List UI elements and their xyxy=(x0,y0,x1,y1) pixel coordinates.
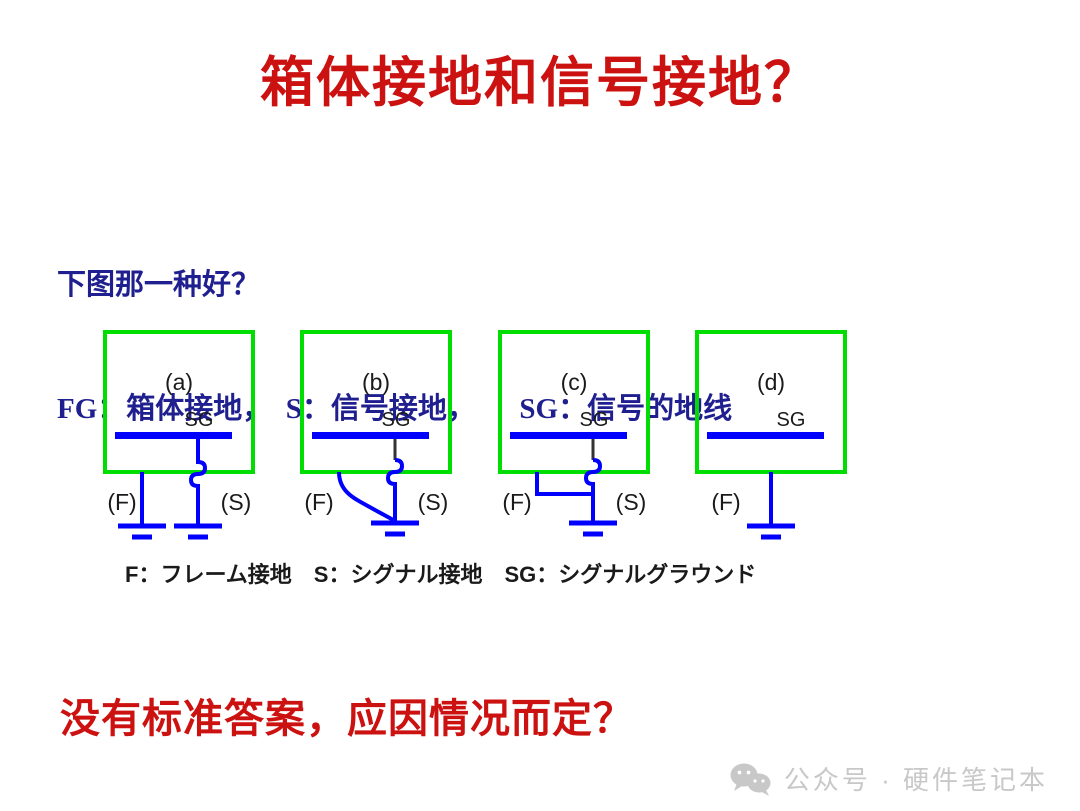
panel-c-shared-ground-icon xyxy=(569,523,617,534)
panel-a-sg-bus xyxy=(115,432,232,439)
panel-c-sg-label: SG xyxy=(580,409,609,431)
diagram-caption: F：フレーム接地 S：シグナル接地 SG：シグナルグラウンド xyxy=(125,562,756,587)
panel-d-sg-bus xyxy=(707,432,824,439)
panel-b-signal-wire xyxy=(388,460,402,523)
panel-c-signal-wire xyxy=(586,460,600,523)
panel-a-signal-ground-label: (S) xyxy=(221,489,252,515)
panel-b-sg-bus xyxy=(312,432,429,439)
panel-b-enclosure xyxy=(302,332,450,472)
panel-c-signal-ground-label: (S) xyxy=(616,489,647,515)
panel-b-frame-ground-label: (F) xyxy=(304,489,333,515)
panel-b: (b) SG (F) (S) xyxy=(302,332,450,534)
panel-a-frame-ground-icon xyxy=(118,526,166,537)
panel-d: (d) SG (F) xyxy=(697,332,845,537)
wechat-icon xyxy=(730,762,772,796)
panel-d-sg-label: SG xyxy=(777,409,806,431)
grounding-diagram-svg: (a) SG (F) (S) (b) SG xyxy=(90,318,880,608)
panel-d-frame-ground-icon xyxy=(747,526,795,537)
grounding-diagram: (a) SG (F) (S) (b) SG xyxy=(90,318,880,608)
panel-a-sg-label: SG xyxy=(185,409,214,431)
panel-c-frame-ground-label: (F) xyxy=(502,489,531,515)
page-title: 箱体接地和信号接地？ xyxy=(0,54,1080,113)
watermark-text: 公众号 · 硬件笔记本 xyxy=(784,760,1048,797)
watermark: 公众号 · 硬件笔记本 xyxy=(730,760,1048,797)
panel-a: (a) SG (F) (S) xyxy=(105,332,253,537)
panel-c-enclosure xyxy=(500,332,648,472)
panel-b-shared-ground-icon xyxy=(371,523,419,534)
panel-a-signal-ground-icon xyxy=(174,526,222,537)
panel-a-signal-wire xyxy=(191,439,205,526)
panel-d-frame-ground-label: (F) xyxy=(711,489,740,515)
panel-c-label: (c) xyxy=(561,369,588,395)
panel-b-sg-label: SG xyxy=(382,409,411,431)
panel-a-enclosure xyxy=(105,332,253,472)
panel-a-frame-ground-label: (F) xyxy=(107,489,136,515)
panel-d-label: (d) xyxy=(757,369,785,395)
panel-b-signal-ground-label: (S) xyxy=(418,489,449,515)
panel-c: (c) SG (F) (S) xyxy=(500,332,648,534)
panel-c-sg-bus xyxy=(510,432,627,439)
panel-d-enclosure xyxy=(697,332,845,472)
intro-question-line: 下图那一种好？ xyxy=(57,265,732,306)
panel-a-label: (a) xyxy=(165,369,193,395)
panel-b-label: (b) xyxy=(362,369,390,395)
conclusion-text: 没有标准答案，应因情况而定？ xyxy=(60,686,634,744)
